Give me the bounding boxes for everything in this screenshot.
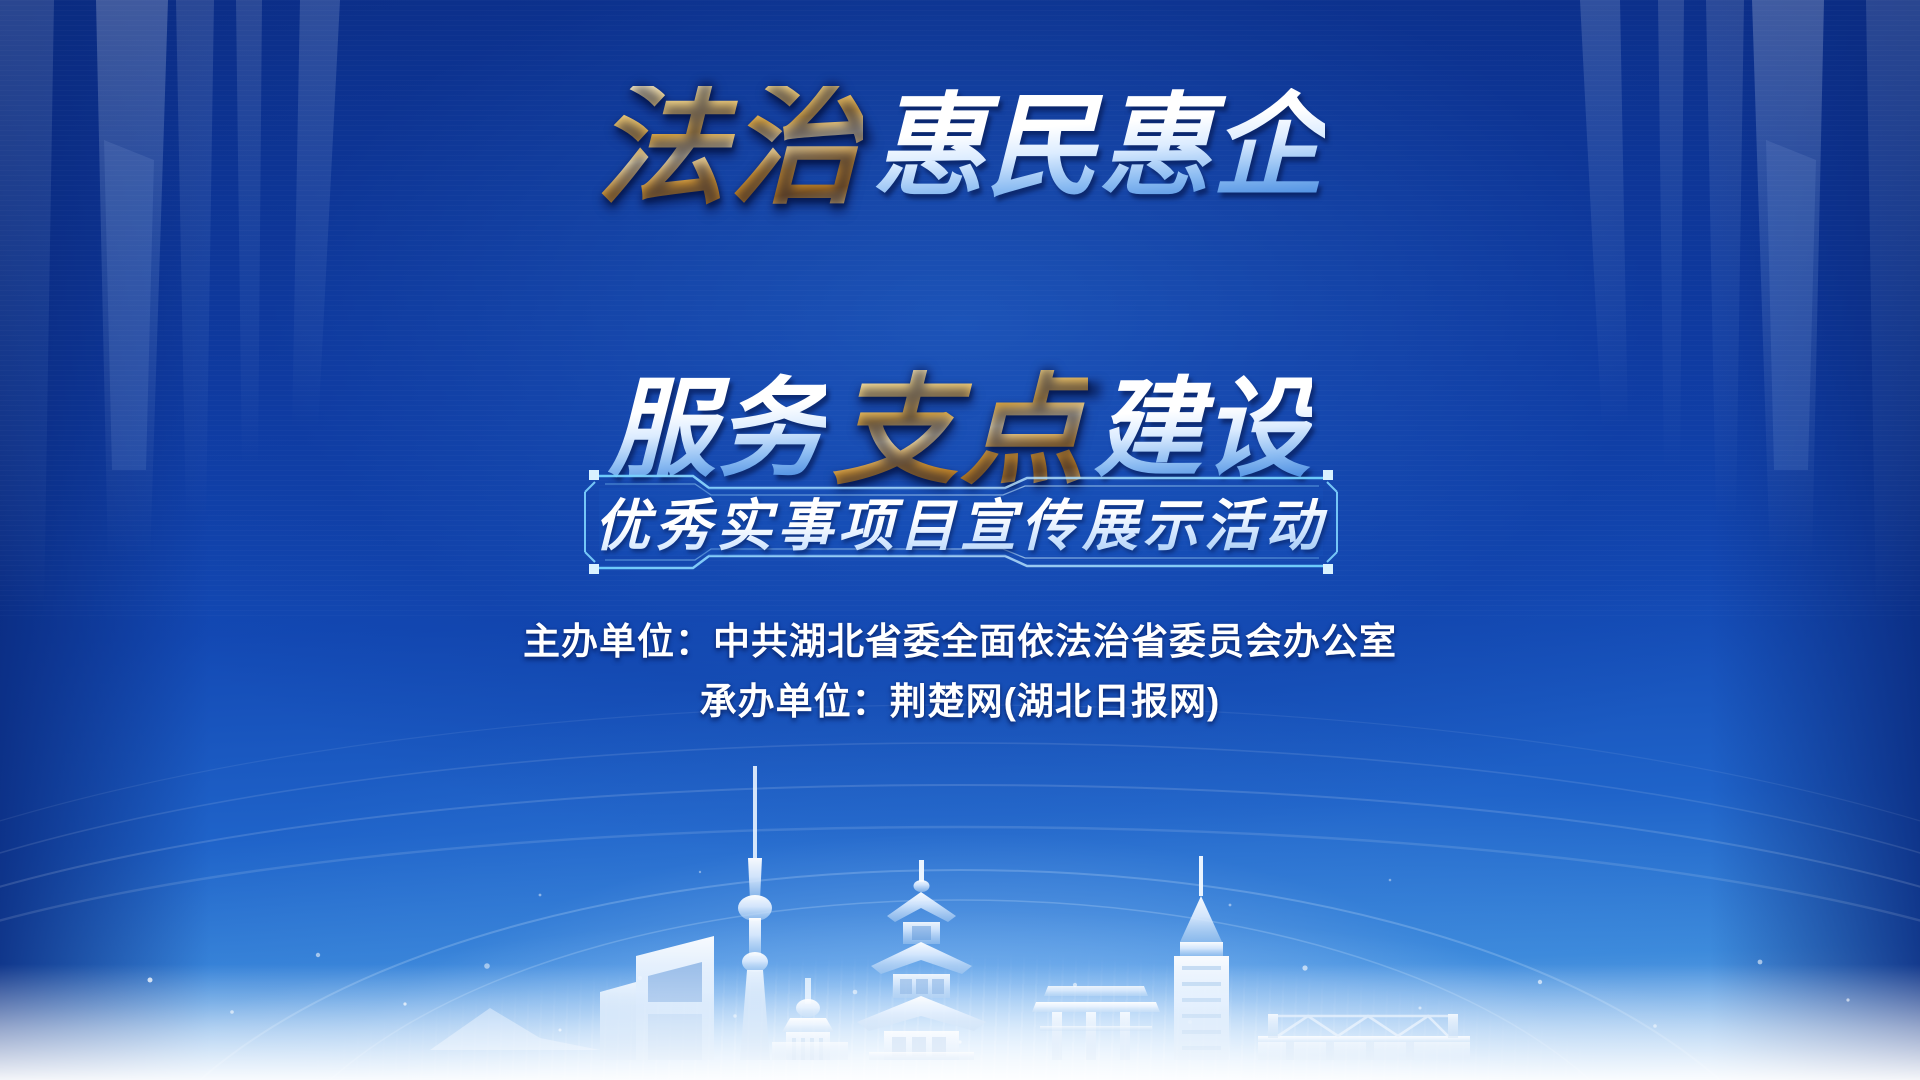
title-line-2: 服务 支点 建设 [0, 234, 1920, 382]
subtitle-banner: 优秀实事项目宣传展示活动 [575, 466, 1345, 578]
organizer-block: 主办单位：中共湖北省委全面依法治省委员会办公室 承办单位：荆楚网(湖北日报网) [0, 612, 1920, 732]
title-gold-fazhi: 法治 [595, 86, 863, 206]
title-block: 法治 惠民惠企 服务 支点 建设 [0, 86, 1920, 382]
organizer-line-operator: 承办单位：荆楚网(湖北日报网) [0, 672, 1920, 732]
title-silver-huiminhuiqi: 惠民惠企 [873, 88, 1325, 206]
title-line-1: 法治 惠民惠企 [0, 86, 1920, 234]
subtitle-text: 优秀实事项目宣传展示活动 [575, 466, 1345, 578]
poster-canvas: 法治 惠民惠企 服务 支点 建设 [0, 0, 1920, 1080]
organizer-line-host: 主办单位：中共湖北省委全面依法治省委员会办公室 [0, 612, 1920, 672]
wuhan-skyline [0, 750, 1920, 1080]
